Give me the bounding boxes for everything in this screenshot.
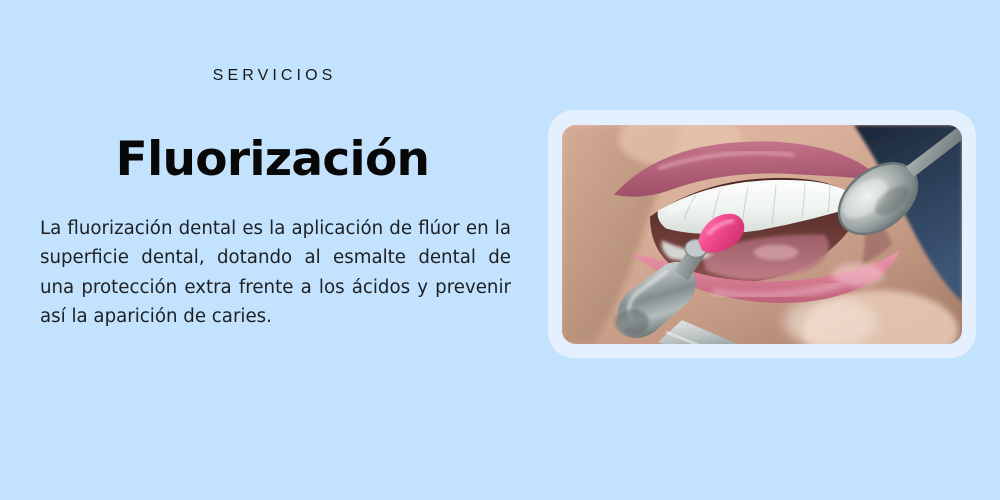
- slide-root: SERVICIOS Fluorización La fluorización d…: [0, 0, 1000, 500]
- text-column: SERVICIOS Fluorización La fluorización d…: [0, 0, 540, 500]
- handpiece-head-shadow: [615, 309, 649, 335]
- page-title: Fluorización: [0, 131, 545, 189]
- service-description-text: La fluorización dental es la aplicación …: [40, 214, 511, 331]
- dental-photo-illustration: [562, 125, 962, 344]
- photo-lip-corner-shine: [832, 262, 884, 286]
- section-eyebrow-label: SERVICIOS: [0, 66, 545, 86]
- dental-fluoride-treatment-photo: [562, 125, 962, 344]
- photo-tongue-highlight: [754, 244, 798, 260]
- image-card-frame: [548, 110, 976, 358]
